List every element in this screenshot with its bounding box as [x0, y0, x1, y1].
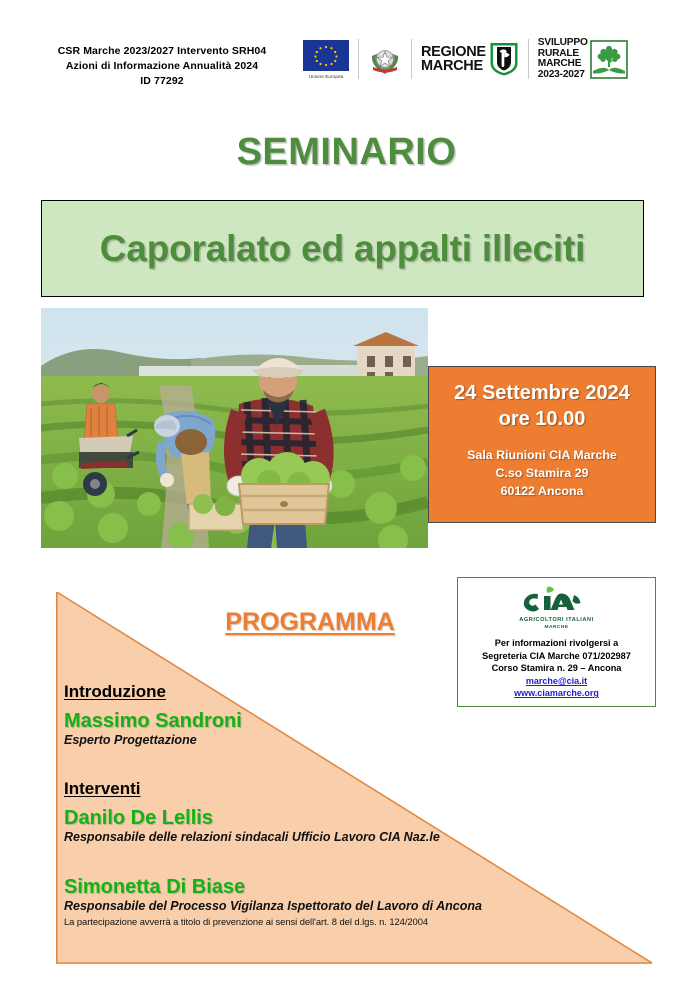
cia-logo-subtitle-2: MARCHE	[544, 625, 568, 630]
funding-program-text: CSR Marche 2023/2027 Intervento SRH04 Az…	[36, 38, 288, 89]
program-content: Introduzione Massimo Sandroni Esperto Pr…	[64, 682, 624, 927]
regione-marche-shield-icon	[489, 41, 519, 77]
funding-line-3: ID 77292	[36, 74, 288, 89]
program-section-label-interventi: Interventi	[64, 779, 624, 799]
cia-agricoltori-italiani-logo-icon	[514, 585, 600, 616]
italian-republic-emblem-icon	[368, 41, 402, 77]
program-speaker: Simonetta Di Biase Responsabile del Proc…	[64, 876, 624, 915]
poster-page: CSR Marche 2023/2027 Intervento SRH04 Az…	[0, 0, 693, 983]
field-workers-photo	[41, 308, 428, 548]
program-speaker: Massimo Sandroni Esperto Progettazione	[64, 710, 624, 749]
eu-stars-icon	[303, 40, 349, 71]
logo-strip: Unione Europea REGIONE	[294, 38, 637, 81]
speaker-name: Danilo De Lellis	[64, 807, 624, 829]
contact-website-link[interactable]: www.ciamarche.org	[458, 687, 655, 699]
speaker-role: Responsabile delle relazioni sindacali U…	[64, 830, 624, 846]
regione-marche-line-1: REGIONE	[421, 45, 486, 60]
speaker-name: Simonetta Di Biase	[64, 876, 624, 898]
contact-line-2: Segreteria CIA Marche 071/202987	[458, 650, 655, 663]
event-venue-line-1: Sala Riunioni CIA Marche	[429, 447, 655, 465]
speaker-role: Esperto Progettazione	[64, 733, 624, 749]
event-venue-line-2: C.so Stamira 29	[429, 465, 655, 483]
contact-line-3: Corso Stamira n. 29 – Ancona	[458, 662, 655, 675]
eu-flag-icon	[303, 40, 349, 71]
eu-flag-caption: Unione Europea	[309, 74, 344, 79]
program-footnote: La partecipazione avverrà a titolo di pr…	[64, 916, 624, 927]
field-workers-illustration	[41, 308, 428, 548]
funding-line-2: Azioni di Informazione Annualità 2024	[36, 59, 288, 74]
seminar-kicker: SEMINARIO	[0, 131, 693, 174]
sviluppo-rurale-tree-icon	[590, 40, 628, 79]
speaker-role: Responsabile del Processo Vigilanza Ispe…	[64, 899, 624, 915]
italian-republic-emblem	[359, 41, 411, 77]
regione-marche-logo: REGIONE MARCHE	[412, 41, 528, 77]
contact-box: AGRICOLTORI ITALIANI MARCHE Per informaz…	[457, 577, 656, 707]
funding-line-1: CSR Marche 2023/2027 Intervento SRH04	[36, 44, 288, 59]
cia-logo-subtitle-1: AGRICOLTORI ITALIANI	[519, 617, 593, 623]
contact-line-1: Per informazioni rivolgersi a	[458, 637, 655, 650]
contact-email-link[interactable]: marche@cia.it	[458, 675, 655, 687]
poster-header: CSR Marche 2023/2027 Intervento SRH04 Az…	[0, 38, 693, 100]
speaker-name: Massimo Sandroni	[64, 710, 624, 732]
event-date: 24 Settembre 2024	[429, 381, 655, 407]
event-venue-line-3: 60122 Ancona	[429, 483, 655, 501]
seminar-title: Caporalato ed appalti illeciti	[100, 228, 585, 270]
regione-marche-line-2: MARCHE	[421, 59, 486, 74]
sviluppo-rurale-marche-logo: SVILUPPO RURALE MARCHE 2023-2027	[529, 38, 637, 81]
program-speaker: Danilo De Lellis Responsabile delle rela…	[64, 807, 624, 846]
sviluppo-rurale-line-4: 2023-2027	[538, 70, 588, 81]
event-time: ore 10.00	[429, 407, 655, 433]
seminar-title-box: Caporalato ed appalti illeciti	[41, 200, 644, 297]
eu-flag-logo: Unione Europea	[294, 40, 358, 79]
program-heading: PROGRAMMA	[120, 608, 500, 637]
event-details-box: 24 Settembre 2024 ore 10.00 Sala Riunion…	[428, 366, 656, 523]
